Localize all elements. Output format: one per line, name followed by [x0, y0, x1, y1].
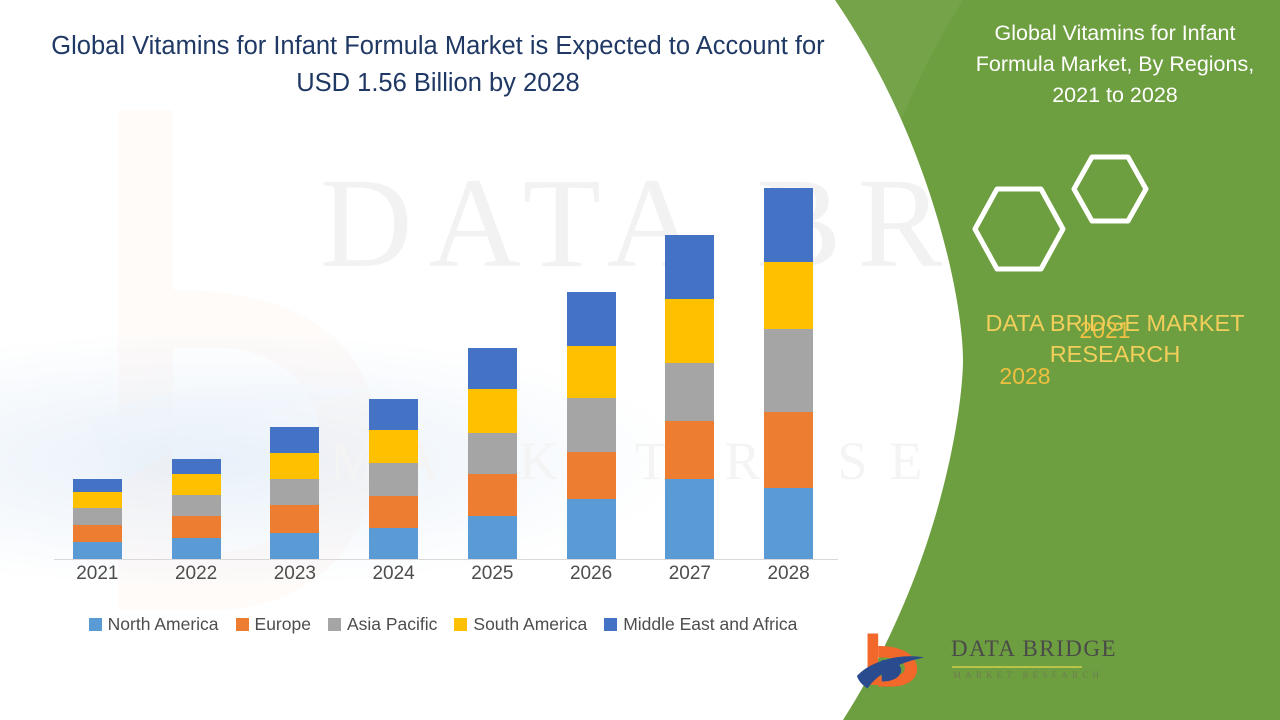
bar-column-2023: [247, 140, 343, 559]
infographic-canvas: DATA BRIDGE MARKET RESEARCH Global Vitam…: [0, 0, 1280, 720]
hexagon-badges: 2021 2028: [945, 145, 1175, 285]
x-tick-2022: 2022: [148, 563, 244, 597]
x-tick-2025: 2025: [444, 563, 540, 597]
legend-label: Europe: [255, 614, 311, 635]
bar-segment-north-america: [764, 488, 813, 559]
bar-segment-south-america: [172, 474, 221, 495]
x-tick-2024: 2024: [346, 563, 442, 597]
bar-segment-north-america: [665, 479, 714, 559]
bar-segment-europe: [665, 421, 714, 479]
bar-segment-south-america: [270, 453, 319, 479]
bar-segment-middle-east-and-africa: [73, 479, 122, 492]
bar-segment-asia-pacific: [369, 463, 418, 496]
bar-column-2024: [346, 140, 442, 559]
stacked-bar: [567, 292, 616, 559]
bar-segment-asia-pacific: [567, 398, 616, 452]
bar-segment-asia-pacific: [270, 479, 319, 505]
legend-label: North America: [108, 614, 219, 635]
stacked-bar: [369, 399, 418, 559]
bar-segment-europe: [567, 452, 616, 499]
bar-segment-south-america: [567, 346, 616, 398]
stacked-bar: [665, 235, 714, 559]
bar-segment-europe: [73, 525, 122, 542]
logo-tagline: MARKET RESEARCH: [953, 670, 1103, 680]
chart-legend: North AmericaEuropeAsia PacificSouth Ame…: [48, 614, 838, 635]
legend-swatch-icon: [604, 618, 617, 631]
bar-segment-asia-pacific: [468, 433, 517, 474]
bar-segment-middle-east-and-africa: [369, 399, 418, 430]
bar-segment-asia-pacific: [665, 363, 714, 421]
bar-segment-north-america: [369, 528, 418, 559]
legend-swatch-icon: [328, 618, 341, 631]
bar-segment-europe: [468, 474, 517, 516]
bar-column-2028: [741, 140, 837, 559]
hexagon-outlines: [945, 145, 1175, 285]
logo-mark-icon: [855, 630, 935, 692]
legend-label: Asia Pacific: [347, 614, 437, 635]
bar-segment-north-america: [73, 542, 122, 559]
bar-segment-middle-east-and-africa: [665, 235, 714, 299]
bar-segment-europe: [270, 505, 319, 533]
bar-column-2026: [543, 140, 639, 559]
legend-label: Middle East and Africa: [623, 614, 797, 635]
bar-segment-europe: [172, 516, 221, 538]
stacked-bar: [270, 427, 319, 559]
x-tick-2021: 2021: [49, 563, 145, 597]
bar-segment-north-america: [567, 499, 616, 559]
bar-segment-north-america: [172, 538, 221, 559]
x-axis-line: [54, 559, 838, 560]
bar-segment-south-america: [764, 262, 813, 329]
stacked-bar: [764, 188, 813, 559]
bar-segment-south-america: [468, 389, 517, 433]
stacked-bar-chart: [48, 140, 838, 560]
bar-segment-europe: [764, 412, 813, 488]
x-tick-2023: 2023: [247, 563, 343, 597]
bar-segment-europe: [369, 496, 418, 528]
bar-segment-middle-east-and-africa: [270, 427, 319, 453]
stacked-bar: [73, 479, 122, 559]
panel-brand-name: DATA BRIDGE MARKET RESEARCH: [955, 308, 1275, 370]
bar-segment-middle-east-and-africa: [567, 292, 616, 346]
bar-segment-south-america: [665, 299, 714, 363]
bar-segment-asia-pacific: [73, 508, 122, 525]
legend-item-middle-east-and-africa[interactable]: Middle East and Africa: [604, 614, 797, 635]
legend-item-north-america[interactable]: North America: [89, 614, 219, 635]
brand-panel-content: Global Vitamins for Infant Formula Marke…: [835, 0, 1280, 720]
logo-wordmark: DATA BRIDGE: [951, 636, 1117, 662]
legend-swatch-icon: [454, 618, 467, 631]
chart-plot-area: [48, 140, 838, 560]
bar-segment-middle-east-and-africa: [172, 459, 221, 474]
bar-segment-middle-east-and-africa: [764, 188, 813, 262]
bar-segment-south-america: [73, 492, 122, 508]
legend-item-europe[interactable]: Europe: [236, 614, 311, 635]
legend-item-asia-pacific[interactable]: Asia Pacific: [328, 614, 437, 635]
legend-label: South America: [473, 614, 587, 635]
bar-segment-north-america: [468, 516, 517, 559]
x-axis-tick-labels: 20212022202320242025202620272028: [48, 563, 838, 597]
bar-column-2025: [444, 140, 540, 559]
bar-segment-middle-east-and-africa: [468, 348, 517, 389]
bar-column-2022: [148, 140, 244, 559]
legend-swatch-icon: [236, 618, 249, 631]
bar-column-2027: [642, 140, 738, 559]
x-tick-2028: 2028: [741, 563, 837, 597]
bar-segment-north-america: [270, 533, 319, 559]
x-tick-2026: 2026: [543, 563, 639, 597]
panel-title: Global Vitamins for Infant Formula Marke…: [965, 18, 1265, 111]
stacked-bar: [468, 348, 517, 559]
bar-segment-asia-pacific: [172, 495, 221, 516]
bar-segment-asia-pacific: [764, 329, 813, 412]
legend-swatch-icon: [89, 618, 102, 631]
company-logo: DATA BRIDGE MARKET RESEARCH: [855, 630, 1085, 702]
x-tick-2027: 2027: [642, 563, 738, 597]
bar-group: [48, 140, 838, 559]
page-title: Global Vitamins for Infant Formula Marke…: [48, 28, 828, 102]
stacked-bar: [172, 459, 221, 559]
bar-column-2021: [49, 140, 145, 559]
logo-divider: [952, 666, 1082, 668]
legend-item-south-america[interactable]: South America: [454, 614, 587, 635]
bar-segment-south-america: [369, 430, 418, 463]
